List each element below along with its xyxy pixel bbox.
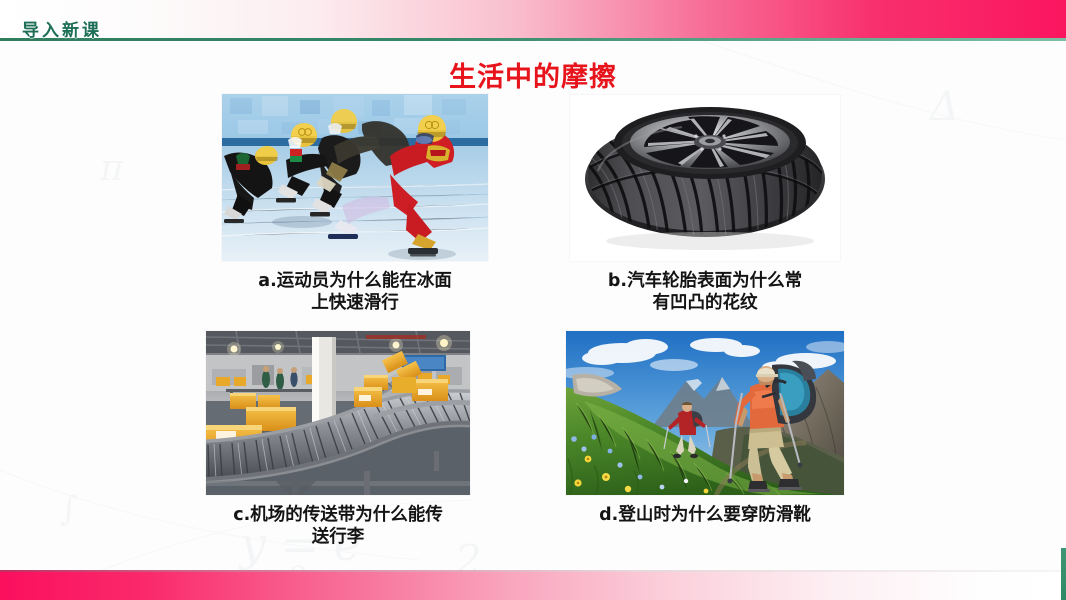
speed-skaters-on-ice-photo xyxy=(222,94,488,261)
car-tire-tread-photo xyxy=(570,95,840,261)
roller-conveyor-belt-photo xyxy=(206,331,470,495)
section-header-label: 导入新课 xyxy=(22,16,102,41)
figure-d: d.登山时为什么要穿防滑靴 xyxy=(566,331,844,526)
slide-canvas: y = e x 2 2 ∫ Δ π 导入新课 生活中的摩擦 xyxy=(0,0,1066,600)
right-green-accent xyxy=(1061,548,1066,600)
figure-a: a.运动员为什么能在冰面 上快速滑行 xyxy=(222,94,488,315)
mountain-hikers-photo xyxy=(566,331,844,495)
figure-a-caption: a.运动员为什么能在冰面 上快速滑行 xyxy=(205,270,505,315)
bottom-decorative-bar xyxy=(0,572,1066,600)
figure-c-caption: c.机场的传送带为什么能传 送行李 xyxy=(183,504,493,549)
figure-b-caption: b.汽车轮胎表面为什么常 有凹凸的花纹 xyxy=(555,270,855,315)
top-green-rule xyxy=(0,38,1066,41)
page-title: 生活中的摩擦 xyxy=(0,55,1066,94)
svg-text:π: π xyxy=(99,148,125,189)
top-decorative-bar xyxy=(0,0,1066,38)
svg-text:∫: ∫ xyxy=(60,489,78,529)
bottom-rule xyxy=(0,570,1066,572)
figure-d-caption: d.登山时为什么要穿防滑靴 xyxy=(550,504,860,526)
figure-c: c.机场的传送带为什么能传 送行李 xyxy=(206,331,470,549)
figure-b: b.汽车轮胎表面为什么常 有凹凸的花纹 xyxy=(570,95,840,315)
